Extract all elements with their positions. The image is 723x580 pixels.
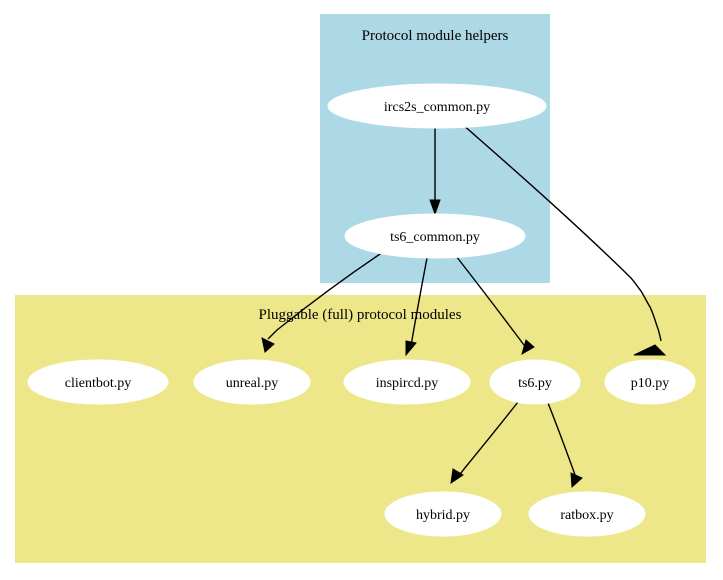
cluster-label-helpers: Protocol module helpers [362, 28, 509, 44]
node-inspircd[interactable]: inspircd.py [344, 360, 470, 404]
node-ts6[interactable]: ts6.py [490, 360, 580, 404]
node-label-ts6: ts6.py [518, 376, 552, 391]
node-label-p10: p10.py [631, 376, 670, 391]
node-label-clientbot: clientbot.py [65, 376, 132, 391]
node-label-unreal: unreal.py [226, 376, 278, 391]
node-ts6_common[interactable]: ts6_common.py [345, 214, 525, 258]
node-clientbot[interactable]: clientbot.py [28, 360, 168, 404]
node-label-ircs2s_common: ircs2s_common.py [384, 100, 490, 115]
node-unreal[interactable]: unreal.py [194, 360, 310, 404]
dependency-graph-svg: Protocol module helpersPluggable (full) … [0, 0, 723, 580]
node-label-ts6_common: ts6_common.py [390, 230, 480, 245]
node-label-hybrid: hybrid.py [416, 508, 470, 523]
node-label-ratbox: ratbox.py [560, 508, 613, 523]
node-label-inspircd: inspircd.py [376, 376, 439, 391]
node-hybrid[interactable]: hybrid.py [385, 492, 501, 536]
node-p10[interactable]: p10.py [605, 360, 695, 404]
node-ircs2s_common[interactable]: ircs2s_common.py [328, 84, 546, 128]
node-ratbox[interactable]: ratbox.py [529, 492, 645, 536]
graph-canvas: Protocol module helpersPluggable (full) … [0, 0, 723, 580]
